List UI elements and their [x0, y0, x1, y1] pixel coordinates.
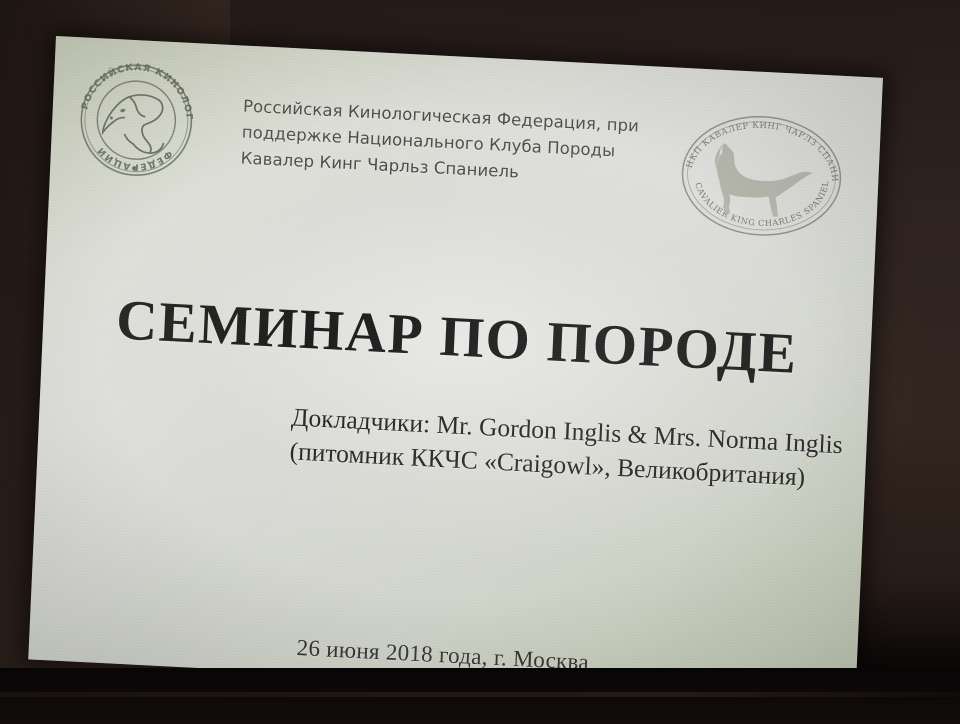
nkp-ckcs-logo: НКП КАВАЛЕР КИНГ ЧАРЛЗ СПАНИЕЛЬ • РОССИЯ… [668, 105, 856, 246]
rkf-stamp-logo: РОССИЙСКАЯ КИНОЛОГИЧЕСКАЯ ФЕДЕРАЦИИ [70, 53, 204, 187]
slide-header-text: Российская Кинологическая Федерация, при… [240, 94, 683, 194]
speakers-block: Докладчики: Mr. Gordon Inglis & Mrs. Nor… [289, 400, 847, 495]
photo-stage: РОССИЙСКАЯ КИНОЛОГИЧЕСКАЯ ФЕДЕРАЦИИ [0, 0, 960, 724]
slide-title: СЕМИНАР ПО ПОРОДЕ [42, 284, 872, 391]
svg-text:РОССИЙСКАЯ КИНОЛОГИЧЕСКАЯ: РОССИЙСКАЯ КИНОЛОГИЧЕСКАЯ [70, 53, 198, 121]
room-floor-edge-highlight [0, 692, 960, 697]
projection-screen: РОССИЙСКАЯ КИНОЛОГИЧЕСКАЯ ФЕДЕРАЦИИ [28, 36, 883, 701]
presentation-slide: РОССИЙСКАЯ КИНОЛОГИЧЕСКАЯ ФЕДЕРАЦИИ [28, 36, 883, 701]
